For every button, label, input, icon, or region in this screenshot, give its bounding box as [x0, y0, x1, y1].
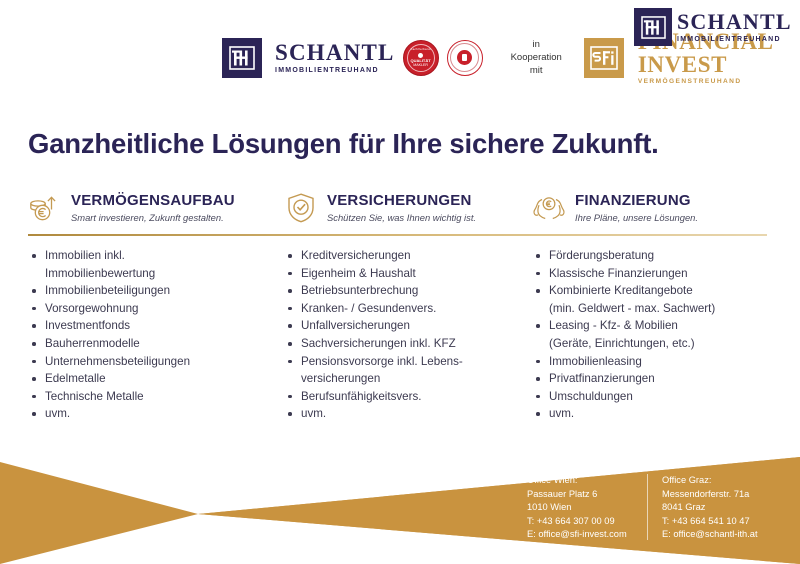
list-item-text: Edelmetalle: [45, 372, 106, 385]
list-item: Edelmetalle: [28, 370, 284, 388]
list-item-text: Technische Metalle: [45, 390, 144, 403]
category-title: VERSICHERUNGEN: [327, 192, 476, 209]
ith-wordmark: SCHANTL IMMOBILIENTREUHAND: [275, 41, 395, 74]
ith-monogram-icon: [222, 38, 262, 78]
list-item: Förderungsberatung: [532, 247, 768, 265]
list-item-text: Eigenheim & Haushalt: [301, 267, 416, 280]
page-title: Ganzheitliche Lösungen für Ihre sichere …: [28, 128, 659, 160]
austria-crest-seal-icon: [447, 40, 483, 76]
list-item: uvm.: [28, 405, 284, 423]
category-vermoegensaufbau: VERMÖGENSAUFBAU Smart investieren, Zukun…: [28, 186, 284, 230]
seal-bottom-text: MAKLER: [413, 63, 428, 67]
corner-brand-name: SCHANTL: [677, 11, 792, 33]
header: SCHANTL IMMOBILIENTREUHAND FachVerband Q…: [0, 0, 800, 108]
office-city: 8041 Graz: [662, 501, 758, 515]
category-finanzierung: FINANZIERUNG Ihre Pläne, unsere Lösungen…: [532, 186, 768, 230]
list-item-text: Förderungsberatung: [549, 249, 654, 262]
list-item: Eigenheim & Haushalt: [284, 265, 532, 283]
office-street: Messendorferstr. 71a: [662, 488, 758, 502]
list-item-text: Berufsunfähigkeitsvers.: [301, 390, 422, 403]
list-item: Kreditversicherungen: [284, 247, 532, 265]
list-item: Privatfinanzierungen: [532, 370, 768, 388]
cooperation-line-2: Kooperation: [511, 51, 562, 64]
list-item-text: Vorsorgewohnung: [45, 302, 138, 315]
list-item: Unfallversicherungen: [284, 317, 532, 335]
list-item: Sachversicherungen inkl. KFZ: [284, 335, 532, 353]
list-item-continuation: (Geräte, Einrichtungen, etc.): [549, 335, 768, 353]
office-label: Office Wien:: [527, 474, 647, 488]
coins-euro-growth-icon: [28, 191, 62, 225]
qualitaets-makler-seal-icon: FachVerband QUALITÄT MAKLER: [403, 40, 439, 76]
list-item-text: Bauherrenmodelle: [45, 337, 140, 350]
list-item: Klassische Finanzierungen: [532, 265, 768, 283]
footer-divider: [647, 474, 648, 540]
list-item-text: Umschuldungen: [549, 390, 633, 403]
list-item-text: uvm.: [549, 407, 574, 420]
category-title: VERMÖGENSAUFBAU: [71, 192, 235, 209]
list-item: Immobilienleasing: [532, 353, 768, 371]
list-item-text: Kombinierte Kreditangebote: [549, 284, 693, 297]
list-item: Technische Metalle: [28, 388, 284, 406]
category-subtitle: Schützen Sie, was Ihnen wichtig ist.: [327, 211, 476, 224]
list-item: Vorsorgewohnung: [28, 300, 284, 318]
list-item-text: Kreditversicherungen: [301, 249, 411, 262]
list-item: Leasing - Kfz- & Mobilien(Geräte, Einric…: [532, 317, 768, 352]
office-phone[interactable]: T: +43 664 541 10 47: [662, 515, 758, 529]
list-item-continuation: (min. Geldwert - max. Sachwert): [549, 300, 768, 318]
ith-brand-subtitle: IMMOBILIENTREUHAND: [275, 67, 395, 74]
list-item: Bauherrenmodelle: [28, 335, 284, 353]
list-item-text: Klassische Finanzierungen: [549, 267, 688, 280]
office-phone[interactable]: T: +43 664 307 00 09: [527, 515, 647, 529]
shield-check-icon: [284, 191, 318, 225]
office-email[interactable]: E: office@sfi-invest.com: [527, 528, 647, 542]
cooperation-line-3: mit: [511, 64, 562, 77]
category-lists: Immobilien inkl.Immobilienbewertung Immo…: [28, 247, 768, 423]
list-item-text: Investmentfonds: [45, 319, 130, 332]
hands-holding-coin-icon: [532, 191, 566, 225]
list-item: uvm.: [532, 405, 768, 423]
category-subtitle: Smart investieren, Zukunft gestalten.: [71, 211, 235, 224]
list-item-continuation: Immobilienbewertung: [45, 265, 284, 283]
list-item: Investmentfonds: [28, 317, 284, 335]
list-item-text: Betriebsunterbrechung: [301, 284, 418, 297]
list-item-text: uvm.: [45, 407, 70, 420]
list-item: Umschuldungen: [532, 388, 768, 406]
office-email[interactable]: E: office@schantl-ith.at: [662, 528, 758, 542]
category-title: FINANZIERUNG: [575, 192, 698, 209]
brochure-page: SCHANTL IMMOBILIENTREUHAND FachVerband Q…: [0, 0, 800, 564]
office-graz: Office Graz: Messendorferstr. 71a 8041 G…: [662, 474, 758, 542]
list-item-text: Unternehmensbeteiligungen: [45, 355, 190, 368]
list-item: Pensionsvorsorge inkl. Lebens-versicheru…: [284, 353, 532, 388]
list-item: Unternehmensbeteiligungen: [28, 353, 284, 371]
corner-ith-wordmark: SCHANTL IMMOBILIENTREUHAND: [677, 11, 792, 43]
seal-top-text: FachVerband: [411, 48, 431, 52]
corner-logo: SCHANTL IMMOBILIENTREUHAND: [634, 8, 792, 46]
list-item: Berufsunfähigkeitsvers.: [284, 388, 532, 406]
office-wien: Office Wien: Passauer Platz 6 1010 Wien …: [527, 474, 647, 542]
list-item-text: Leasing - Kfz- & Mobilien: [549, 319, 678, 332]
ith-brand-name: SCHANTL: [275, 41, 395, 64]
list-item-text: Unfallversicherungen: [301, 319, 410, 332]
sfi-brand-subtitle: VERMÖGENSTREUHAND: [638, 79, 800, 86]
corner-brand-subtitle: IMMOBILIENTREUHAND: [677, 36, 792, 43]
category-versicherungen: VERSICHERUNGEN Schützen Sie, was Ihnen w…: [284, 186, 532, 230]
corner-ith-monogram-icon: [634, 8, 672, 46]
list-vermoegensaufbau: Immobilien inkl.Immobilienbewertung Immo…: [28, 247, 284, 423]
list-finanzierung: Förderungsberatung Klassische Finanzieru…: [532, 247, 768, 423]
list-item-text: uvm.: [301, 407, 326, 420]
list-item-text: Privatfinanzierungen: [549, 372, 655, 385]
gold-divider-rule: [28, 234, 767, 236]
list-item-text: Sachversicherungen inkl. KFZ: [301, 337, 456, 350]
list-item: Betriebsunterbrechung: [284, 282, 532, 300]
office-street: Passauer Platz 6: [527, 488, 647, 502]
list-item: uvm.: [284, 405, 532, 423]
list-item: Immobilienbeteiligungen: [28, 282, 284, 300]
list-versicherungen: Kreditversicherungen Eigenheim & Haushal…: [284, 247, 532, 423]
office-city: 1010 Wien: [527, 501, 647, 515]
list-item: Immobilien inkl.Immobilienbewertung: [28, 247, 284, 282]
sfi-monogram-icon: [584, 38, 624, 78]
list-item-text: Kranken- / Gesundenvers.: [301, 302, 436, 315]
list-item-continuation: versicherungen: [301, 370, 532, 388]
list-item-text: Immobilienbeteiligungen: [45, 284, 170, 297]
list-item-text: Pensionsvorsorge inkl. Lebens-: [301, 355, 463, 368]
footer-contact: Office Wien: Passauer Platz 6 1010 Wien …: [527, 474, 758, 542]
category-headers: VERMÖGENSAUFBAU Smart investieren, Zukun…: [28, 186, 768, 230]
category-subtitle: Ihre Pläne, unsere Lösungen.: [575, 211, 698, 224]
list-item-text: Immobilien inkl.: [45, 249, 125, 262]
office-label: Office Graz:: [662, 474, 758, 488]
list-item-text: Immobilienleasing: [549, 355, 642, 368]
cooperation-label: in Kooperation mit: [511, 38, 562, 77]
list-item: Kranken- / Gesundenvers.: [284, 300, 532, 318]
cooperation-line-1: in: [511, 38, 562, 51]
list-item: Kombinierte Kreditangebote(min. Geldwert…: [532, 282, 768, 317]
